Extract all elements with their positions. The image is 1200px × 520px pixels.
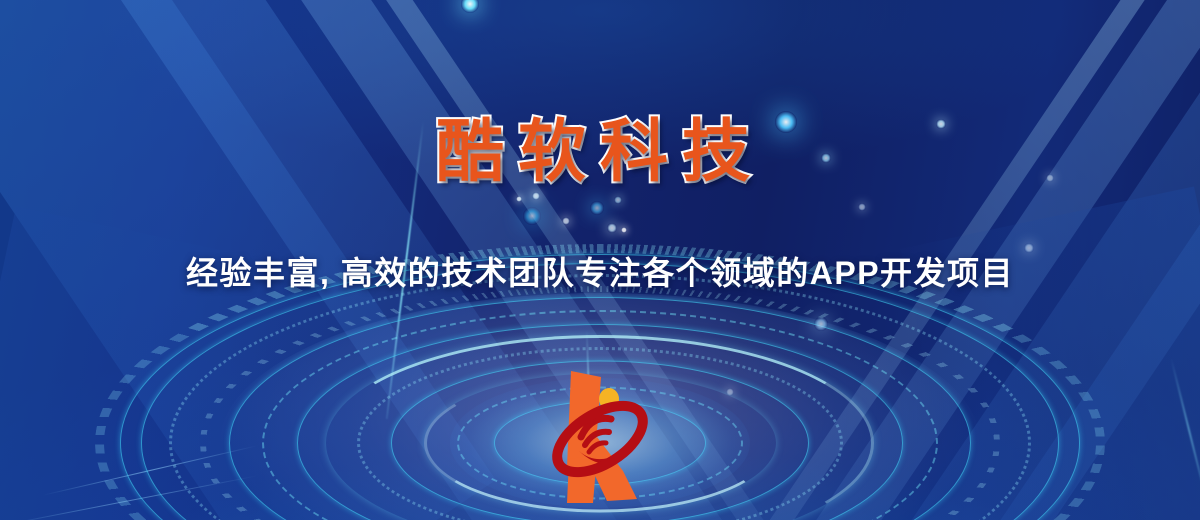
page-title: 酷软科技: [0, 96, 1200, 195]
k-letter-orbit-logo: [523, 355, 673, 515]
dark-red-orbit-ellipse: [546, 392, 654, 485]
subtitle-tagline: 经验丰富, 高效的技术团队专注各个领域的APP开发项目: [0, 248, 1200, 294]
hero-banner: 酷软科技 经验丰富, 高效的技术团队专注各个领域的APP开发项目: [0, 0, 1200, 520]
